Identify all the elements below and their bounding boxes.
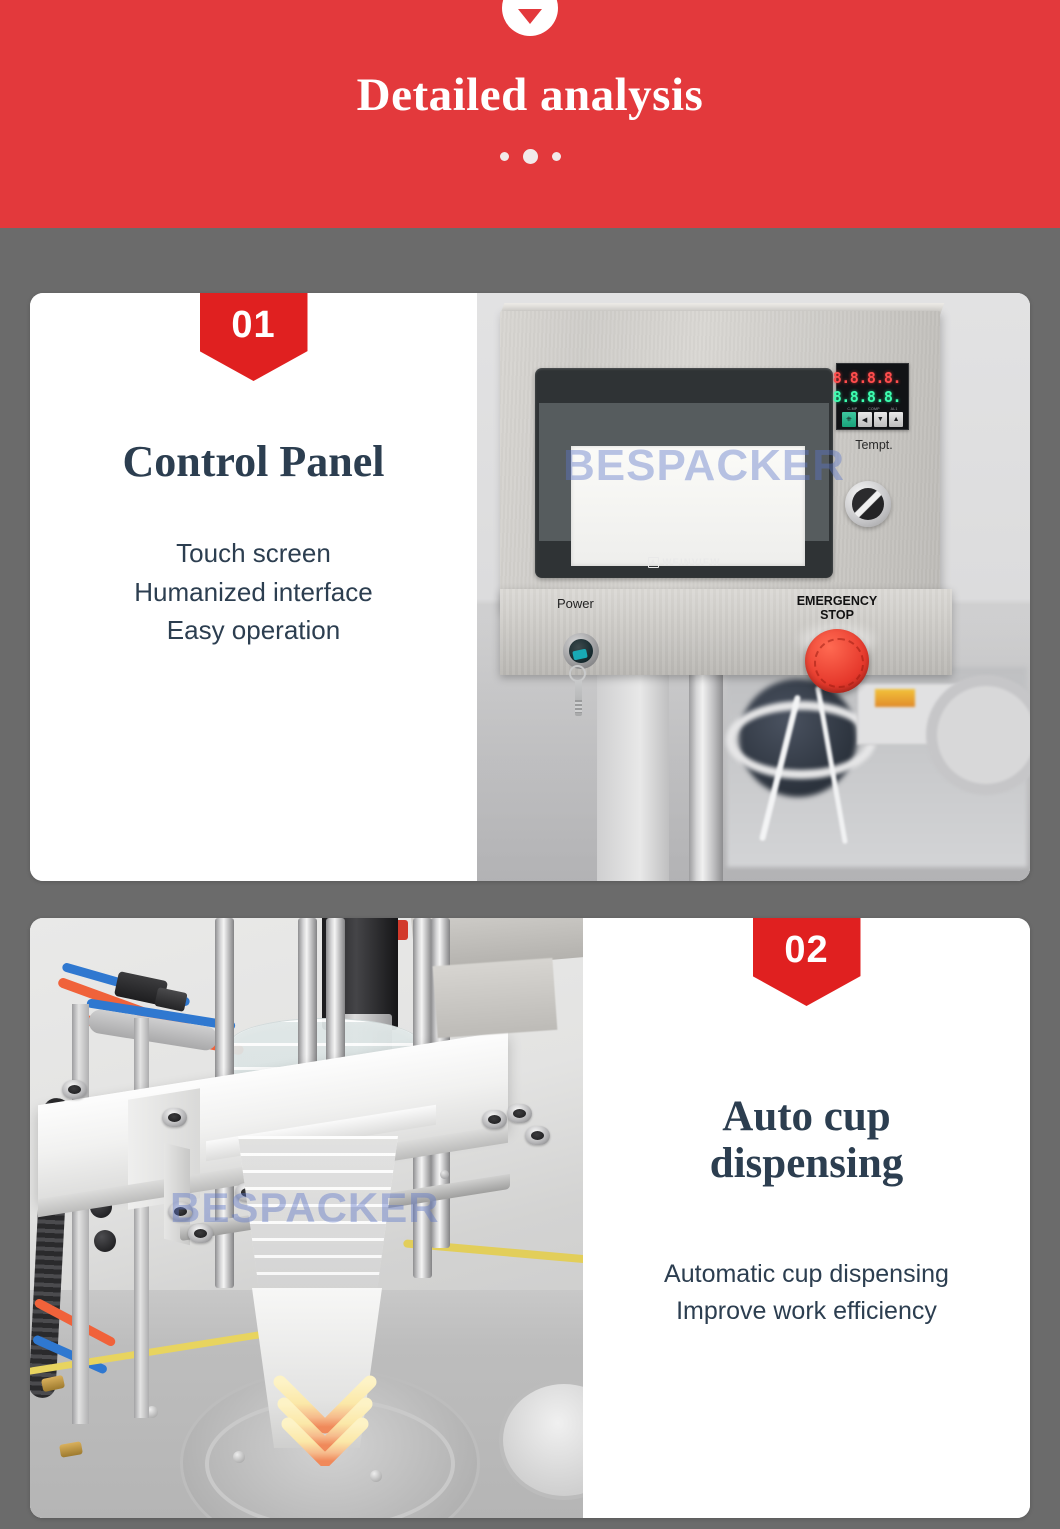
emergency-stop-label: EMERGENCY STOP	[777, 594, 897, 622]
page-header: Detailed analysis	[0, 0, 1060, 228]
temp-controller-indicator-labels: C-MP COMP AL1	[842, 407, 903, 411]
temp-down-arrow-key[interactable]: ▼	[874, 412, 888, 427]
card-2-number-badge: 02	[753, 918, 861, 1006]
card-1-description: Touch screen Humanized interface Easy op…	[134, 534, 372, 649]
selector-knob[interactable]	[845, 481, 891, 527]
temp-controller-pv-display: 8.8.8.8.	[842, 369, 903, 386]
dot-icon-right	[552, 152, 561, 161]
temp-controller-keypad[interactable]: ⎈ ◀ ▼ ▲	[842, 412, 903, 427]
temperature-controller[interactable]: 8.8.8.8. 8.8.8.8. C-MP COMP AL1 ⎈ ◀ ▼ ▲	[836, 363, 909, 430]
cards-stage: 01 Control Panel Touch screen Humanized …	[0, 228, 1060, 1529]
temp-tick-comp: COMP	[868, 407, 880, 411]
temp-tick-al1: AL1	[891, 407, 898, 411]
hmi-screen-inner	[539, 403, 829, 541]
adjustment-knob-2[interactable]	[94, 1230, 116, 1252]
temperature-label: Tempt.	[832, 438, 916, 452]
machine-warning-label	[875, 689, 915, 707]
card-1-text-pane: 01 Control Panel Touch screen Humanized …	[30, 293, 477, 881]
plate-bushing-4	[188, 1224, 213, 1243]
power-label: Power	[557, 596, 594, 611]
header-dots-decoration	[500, 149, 561, 164]
plate-bushing-6	[507, 1104, 532, 1123]
emergency-stop-button[interactable]	[805, 629, 869, 693]
card-2-description: Automatic cup dispensing Improve work ef…	[664, 1256, 949, 1330]
plate-bushing-1	[62, 1080, 87, 1099]
chevron-down-triangle-icon	[518, 9, 542, 24]
frame-rail-left-2	[134, 1018, 149, 1418]
card-1-title: Control Panel	[123, 438, 385, 486]
machine-ring	[726, 701, 876, 779]
down-arrow-icon	[270, 1286, 380, 1466]
machine-right-panel	[433, 958, 558, 1038]
dot-icon-left	[500, 152, 509, 161]
weinview-logo-text: WEINVIEW	[663, 557, 721, 568]
temp-set-key[interactable]: ⎈	[842, 412, 856, 427]
hanging-key	[575, 680, 582, 716]
weinview-mark-icon	[648, 557, 659, 568]
feature-card-auto-cup-dispensing: BESPACKER 02 Auto cup dispensing Automat…	[30, 918, 1030, 1518]
card-2-title: Auto cup dispensing	[710, 1093, 904, 1188]
temp-tick-c-mp: C-MP	[847, 407, 857, 411]
turntable-bolt-1	[233, 1451, 245, 1463]
weinview-logo: WEINVIEW	[535, 557, 833, 568]
card-2-text-pane: 02 Auto cup dispensing Automatic cup dis…	[583, 918, 1030, 1518]
card-2-photo-cup-dispenser: BESPACKER	[30, 918, 583, 1518]
hmi-touch-screen[interactable]: WEINVIEW	[535, 368, 833, 578]
temp-up-arrow-key[interactable]: ▲	[889, 412, 903, 427]
plate-bushing-5	[482, 1110, 507, 1129]
temp-left-arrow-key[interactable]: ◀	[858, 412, 872, 427]
plate-bushing-3	[168, 1202, 193, 1221]
page-title: Detailed analysis	[357, 72, 704, 119]
dot-icon-center	[523, 149, 538, 164]
card-1-number-badge: 01	[200, 293, 308, 381]
frame-rail-left-1	[72, 1004, 89, 1424]
white-cup-stack	[238, 1136, 398, 1301]
temp-controller-sv-display: 8.8.8.8.	[842, 388, 903, 405]
plate-bushing-7	[525, 1126, 550, 1145]
plate-screw-2	[440, 1170, 449, 1179]
card-1-photo-control-panel: WEINVIEW 8.8.8.8. 8.8.8.8. C-MP COMP AL1…	[477, 293, 1030, 881]
pedestal-column-rear	[597, 673, 669, 881]
header-notch-circle	[502, 0, 558, 36]
plate-bushing-2	[162, 1108, 187, 1127]
turntable-bolt-2	[370, 1470, 382, 1482]
hmi-lcd-display[interactable]	[571, 446, 805, 566]
pedestal-column	[689, 653, 723, 881]
feature-card-control-panel: 01 Control Panel Touch screen Humanized …	[30, 293, 1030, 881]
